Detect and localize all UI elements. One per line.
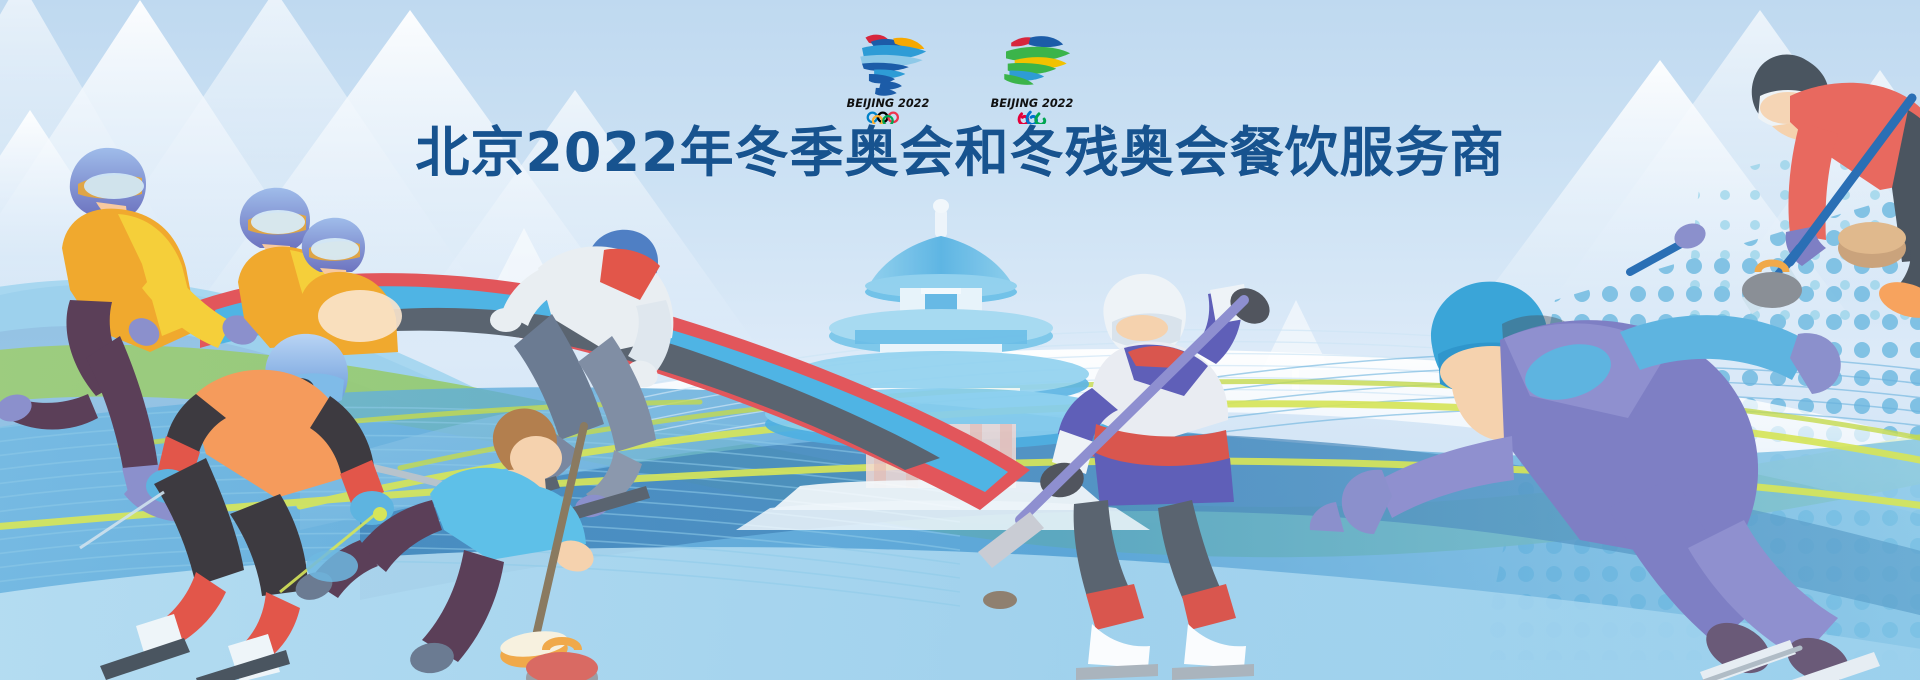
beijing-2022-olympic-emblem: BEIJING 2022 (836, 22, 940, 124)
paralympic-wordmark: BEIJING 2022 (991, 97, 1074, 110)
beijing-2022-catering-banner: BEIJING 2022 (0, 0, 1920, 680)
beijing-2022-paralympic-emblem: BEIJING 2022 (980, 22, 1084, 124)
page-title: 北京2022年冬季奥会和冬残奥会餐饮服务商 (0, 122, 1920, 184)
olympic-wordmark: BEIJING 2022 (847, 97, 930, 110)
emblem-group: BEIJING 2022 (836, 22, 1084, 124)
